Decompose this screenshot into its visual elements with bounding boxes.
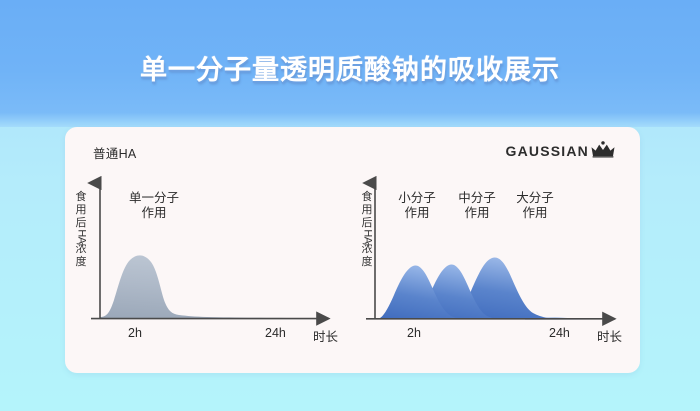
charts-row: 食 用 后 HA 浓 度 xyxy=(65,169,640,373)
annotation-line-0: 单一分子 xyxy=(115,191,193,206)
page-root: 单一分子量透明质酸钠的吸收展示 普通HA GAUSSIAN 食 用 后 HA 浓 xyxy=(0,0,700,411)
annotation-line-1: 作用 xyxy=(115,206,193,221)
chart-left-xtick-2h: 2h xyxy=(128,326,142,340)
annotation-line-1: 作用 xyxy=(503,206,567,221)
chart-left-x-axis-title: 时长 xyxy=(313,326,338,345)
header-gradient-fade xyxy=(0,113,700,127)
content-card: 普通HA GAUSSIAN 食 用 后 HA 浓 度 xyxy=(65,127,640,373)
chart-right-x-axis-title: 时长 xyxy=(597,326,622,345)
card-label-ordinary-ha: 普通HA xyxy=(93,143,137,162)
curve-single-molecule xyxy=(100,255,325,319)
annotation-line-1: 作用 xyxy=(445,206,509,221)
chart-gaussian-ha: 食 用 后 HA 浓 度 xyxy=(353,169,638,373)
annotation-line-0: 小分子 xyxy=(385,191,449,206)
annotation-line-0: 中分子 xyxy=(445,191,509,206)
annotation-line-0: 大分子 xyxy=(503,191,567,206)
chart-left-xtick-24h: 24h xyxy=(265,326,286,340)
annotation-medium-molecule: 中分子 作用 xyxy=(445,191,509,221)
chart-right-xtick-2h: 2h xyxy=(407,326,421,340)
chart-right-xtick-24h: 24h xyxy=(549,326,570,340)
chart-left-plot xyxy=(67,169,352,373)
chart-ordinary-ha: 食 用 后 HA 浓 度 xyxy=(67,169,352,373)
brand-logo: GAUSSIAN xyxy=(506,141,617,160)
annotation-large-molecule: 大分子 作用 xyxy=(503,191,567,221)
page-title: 单一分子量透明质酸钠的吸收展示 xyxy=(0,48,700,87)
crown-icon xyxy=(590,141,616,158)
annotation-single-molecule: 单一分子 作用 xyxy=(115,191,193,221)
annotation-small-molecule: 小分子 作用 xyxy=(385,191,449,221)
brand-name: GAUSSIAN xyxy=(506,143,590,159)
annotation-line-1: 作用 xyxy=(385,206,449,221)
